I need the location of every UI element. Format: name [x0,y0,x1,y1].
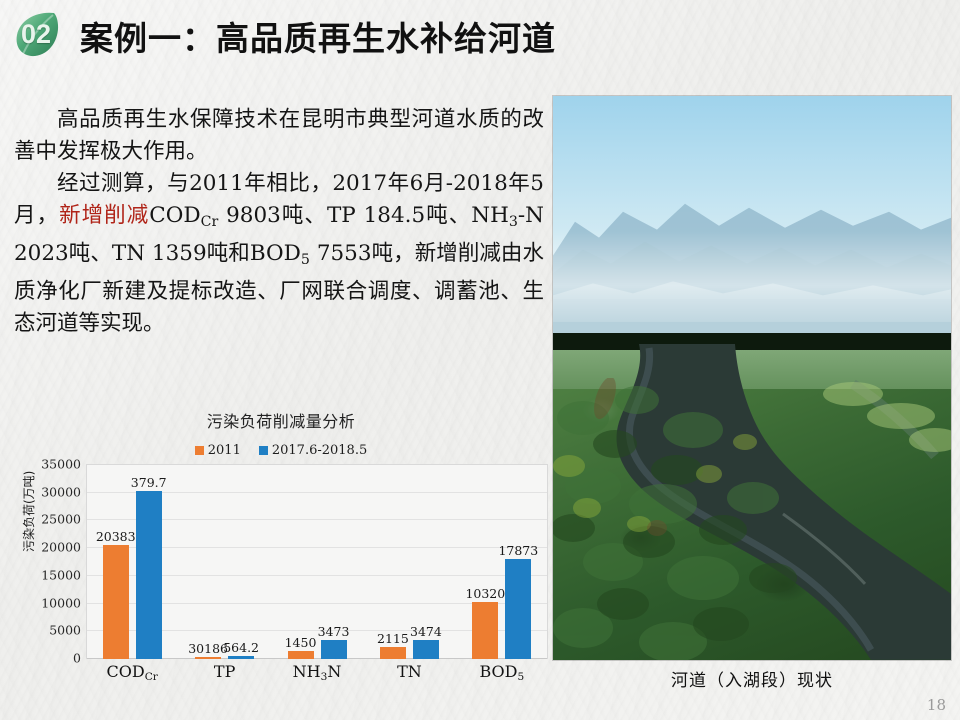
photo-canopy-texture [553,378,951,660]
chart-x-label: BOD5 [456,662,548,690]
p2-post-a: COD [149,203,200,228]
chart-bar-group: 21153474 [363,464,455,659]
chart-bar-slot: 379.7 [136,464,162,659]
page-title: 案例一：高品质再生水补给河道 [80,12,556,60]
p2-highlight: 新增削减 [59,203,149,228]
photo-haze [553,231,951,321]
chart-bar-slot: 30186 [195,464,221,659]
chart-data-label: 564.2 [223,640,259,655]
chart-bar[interactable]: 1450 [288,651,314,659]
chart-bar-slot: 564.2 [228,464,254,659]
paragraph-1: 高品质再生水保障技术在昆明市典型河道水质的改善中发挥极大作用。 [14,104,544,168]
chart-x-label: TP [178,662,270,690]
chart-bar[interactable]: 17873 [505,559,531,659]
chart-bar[interactable]: 10320 [472,602,498,659]
chart-bar[interactable]: 564.2 [228,656,254,659]
chart-bar-slot: 20383 [103,464,129,659]
paragraph-2: 经过测算，与2011年相比，2017年6月-2018年5月，新增削减CODCr … [14,168,544,340]
chart-bar[interactable]: 2115 [380,647,406,659]
chart-y-tick: 5000 [49,623,81,638]
chart-bar-group: 30186564.2 [178,464,270,659]
chart-y-tick: 30000 [41,484,81,499]
chart-bar-slot: 2115 [380,464,406,659]
chart-data-label: 379.7 [131,475,167,490]
chart-y-axis-label: 污染负荷(万吨) [20,471,37,552]
p2-post-c-sub: 5 [301,252,310,268]
photo-caption: 河道（入湖段）现状 [553,666,951,691]
chart-bar-slot: 17873 [505,464,531,659]
chart-bar[interactable]: 20383 [103,545,129,659]
aerial-river-forest-photo [553,96,951,660]
page-number: 18 [927,696,946,714]
chart-data-label: 17873 [498,543,538,558]
chart-bar-slot: 1450 [288,464,314,659]
legend-swatch-icon [259,446,268,455]
chart-data-label: 20383 [96,529,136,544]
slide-header: 02 案例一：高品质再生水补给河道 [0,0,960,76]
chart-plot-wrap: 35000300002500020000150001000050000 2038… [86,464,548,659]
chart-bar[interactable]: 30186 [195,657,221,659]
chart-data-label: 1450 [285,635,317,650]
chart-legend-item-0[interactable]: 2011 [195,443,241,458]
chart-y-tick: 25000 [41,512,81,527]
chart-data-label: 3473 [318,624,350,639]
chart-legend-label: 2017.6-2018.5 [272,443,367,458]
chart-y-tick: 10000 [41,595,81,610]
chart-y-tick: 35000 [41,457,81,472]
chart-bar[interactable]: 379.7 [136,491,162,659]
chart-data-label: 30186 [188,641,228,656]
leaf-badge-number: 02 [8,6,64,62]
chart-x-label: TN [363,662,455,690]
chart-bar-slot: 3474 [413,464,439,659]
leaf-icon: 02 [8,6,64,62]
chart-x-label: NH3N [271,662,363,690]
chart-data-label: 3474 [410,624,442,639]
pollution-load-chart: 污染负荷削减量分析 20112017.6-2018.5 污染负荷(万吨) 350… [8,400,554,705]
chart-y-tick: 0 [73,651,81,666]
p2-post-a-sub: Cr [201,214,219,230]
chart-bar-group: 20383379.7 [86,464,178,659]
chart-bar-group: 1032017873 [456,464,548,659]
chart-legend-label: 2011 [208,443,241,458]
chart-legend-item-1[interactable]: 2017.6-2018.5 [259,443,367,458]
chart-bar-group: 14503473 [271,464,363,659]
slide-root: 02 案例一：高品质再生水补给河道 高品质再生水保障技术在昆明市典型河道水质的改… [0,0,960,720]
legend-swatch-icon [195,446,204,455]
chart-data-label: 2115 [377,631,409,646]
chart-data-label: 10320 [465,586,505,601]
chart-bar-slot: 10320 [472,464,498,659]
chart-bar[interactable]: 3473 [321,640,347,659]
chart-legend: 20112017.6-2018.5 [8,443,554,458]
chart-bar-slot: 3473 [321,464,347,659]
chart-y-tick: 20000 [41,540,81,555]
photo-canvas [553,96,951,660]
chart-x-axis-labels: CODCrTPNH3NTNBOD5 [86,662,548,690]
p2-post-b-sub: 3 [509,214,518,230]
chart-bar-groups: 20383379.730186564.214503473211534741032… [86,464,548,659]
p2-post-b: 9803吨、TP 184.5吨、NH [218,203,509,228]
chart-bar[interactable]: 3474 [413,640,439,659]
body-text-block: 高品质再生水保障技术在昆明市典型河道水质的改善中发挥极大作用。 经过测算，与20… [14,104,544,340]
chart-title: 污染负荷削减量分析 [8,408,554,432]
chart-x-label: CODCr [86,662,178,690]
chart-y-tick: 15000 [41,567,81,582]
